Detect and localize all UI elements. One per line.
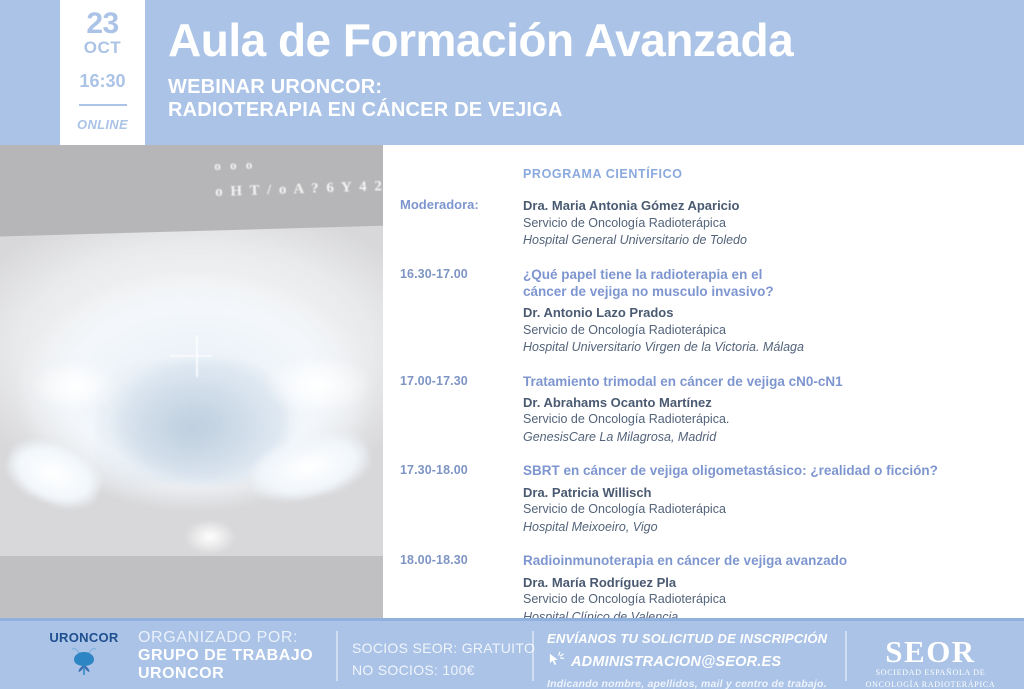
organizer-name-line-2: URONCOR <box>138 665 313 683</box>
session-speaker: Dr. Abrahams Ocanto Martínez <box>523 394 1024 412</box>
date-time: 16:30 <box>79 71 125 92</box>
seor-tagline-line-2: ONCOLOGÍA RADIOTERÁPICA <box>858 680 1003 689</box>
organized-by-label: ORGANIZADO POR: <box>138 629 313 647</box>
session-time: 18.00-18.30 <box>400 552 523 626</box>
uroncor-logo: URONCOR <box>38 630 130 681</box>
program-heading: PROGRAMA CIENTÍFICO <box>523 167 1024 181</box>
date-month: OCT <box>84 39 121 56</box>
organizer-name-line-1: GRUPO DE TRABAJO <box>138 647 313 665</box>
session-time: 17.30-18.00 <box>400 462 523 536</box>
scan-crosshair-horizontal <box>170 355 212 357</box>
session-dept: Servicio de Oncología Radioterápica <box>523 322 1024 340</box>
subtitle-line-2: RADIOTERAPIA EN CÁNCER DE VEJIGA <box>168 99 1008 122</box>
session-details: SBRT en cáncer de vejiga oligometastásic… <box>523 462 1024 536</box>
footer-divider-1 <box>336 631 338 681</box>
session-time: 17.00-17.30 <box>400 373 523 447</box>
session-hospital: GenesisCare La Milagrosa, Madrid <box>523 429 1024 447</box>
session-title-line-2: cáncer de vejiga no musculo invasivo? <box>523 283 1024 300</box>
poster-footer: URONCOR ORGANIZADO POR: GRUPO DE TRABAJO… <box>0 618 1024 689</box>
uroncor-logo-text: URONCOR <box>38 630 130 645</box>
ct-scan-image: o o o o H T / o A ? 6 Y 4 2 3 3 <box>0 145 383 618</box>
session-title: Tratamiento trimodal en cáncer de vejiga… <box>523 373 1024 390</box>
session-time: 16.30-17.00 <box>400 266 523 357</box>
poster-body: o o o o H T / o A ? 6 Y 4 2 3 3 PROGRAMA… <box>0 145 1024 618</box>
moderator-hospital: Hospital General Universitario de Toledo <box>523 232 1024 250</box>
title-group: Aula de Formación Avanzada WEBINAR URONC… <box>168 16 1008 122</box>
inscription-note: Indicando nombre, apellidos, mail y cent… <box>547 678 827 689</box>
session-title-line-1: ¿Qué papel tiene la radioterapia en el <box>523 266 1024 283</box>
seor-logo-text: SEOR <box>858 637 1003 666</box>
session-details: Tratamiento trimodal en cáncer de vejiga… <box>523 373 1024 447</box>
session-dept: Servicio de Oncología Radioterápica <box>523 591 1024 609</box>
session-title: ¿Qué papel tiene la radioterapia en el c… <box>523 266 1024 301</box>
date-mode: ONLINE <box>77 117 128 132</box>
session-hospital: Hospital Universitario Virgen de la Vict… <box>523 339 1024 357</box>
session-speaker: Dr. Antonio Lazo Prados <box>523 304 1024 322</box>
date-divider <box>79 104 127 106</box>
pricing-block: SOCIOS SEOR: GRATUITO NO SOCIOS: 100€ <box>352 638 535 681</box>
session-dept: Servicio de Oncología Radioterápica. <box>523 411 1024 429</box>
scan-bone-center <box>185 520 235 554</box>
webinar-poster: 23 OCT 16:30 ONLINE Aula de Formación Av… <box>0 0 1024 689</box>
session-details: ¿Qué papel tiene la radioterapia en el c… <box>523 266 1024 357</box>
cursor-click-icon <box>547 650 566 674</box>
session-row: 17.00-17.30 Tratamiento trimodal en cánc… <box>383 373 1024 447</box>
bladder-icon <box>38 646 130 681</box>
date-day: 23 <box>86 10 118 39</box>
scan-bright-left <box>30 360 120 412</box>
session-details: Radioinmunoterapia en cáncer de vejiga a… <box>523 552 1024 626</box>
inscription-email-row[interactable]: ADMINISTRACION@SEOR.ES <box>547 650 827 674</box>
organizer-block: ORGANIZADO POR: GRUPO DE TRABAJO URONCOR <box>138 629 313 683</box>
moderator-details: Dra. Maria Antonia Gómez Aparicio Servic… <box>523 197 1024 250</box>
page-title: Aula de Formación Avanzada <box>168 16 1008 66</box>
moderator-name: Dra. Maria Antonia Gómez Aparicio <box>523 197 1024 215</box>
inscription-block: ENVÍANOS TU SOLICITUD DE INSCRIPCIÓN ADM… <box>547 631 827 689</box>
price-members: SOCIOS SEOR: GRATUITO <box>352 638 535 660</box>
session-dept: Servicio de Oncología Radioterápica <box>523 501 1024 519</box>
session-row: 18.00-18.30 Radioinmunoterapia en cáncer… <box>383 552 1024 626</box>
scan-annotation-text: o o o o H T / o A ? 6 Y 4 2 3 3 <box>214 152 383 218</box>
seor-tagline-line-1: SOCIEDAD ESPAÑOLA DE <box>858 668 1003 678</box>
moderator-label: Moderadora: <box>400 197 523 250</box>
inscription-email[interactable]: ADMINISTRACION@SEOR.ES <box>571 654 781 670</box>
price-non-members: NO SOCIOS: 100€ <box>352 660 535 682</box>
poster-header: 23 OCT 16:30 ONLINE Aula de Formación Av… <box>0 0 1024 145</box>
moderator-dept: Servicio de Oncología Radioterápica <box>523 215 1024 233</box>
session-row: 17.30-18.00 SBRT en cáncer de vejiga oli… <box>383 462 1024 536</box>
session-row: 16.30-17.00 ¿Qué papel tiene la radioter… <box>383 266 1024 357</box>
moderator-row: Moderadora: Dra. Maria Antonia Gómez Apa… <box>383 197 1024 250</box>
seor-logo: SEOR SOCIEDAD ESPAÑOLA DE ONCOLOGÍA RADI… <box>858 637 1003 689</box>
date-block: 23 OCT 16:30 ONLINE <box>60 0 145 145</box>
program-panel: PROGRAMA CIENTÍFICO Moderadora: Dra. Mar… <box>383 145 1024 618</box>
scan-annotation-row-2: o H T / o A ? 6 Y 4 2 3 3 <box>215 178 383 201</box>
session-title: Radioinmunoterapia en cáncer de vejiga a… <box>523 552 1024 569</box>
session-hospital: Hospital Meixoeiro, Vigo <box>523 519 1024 537</box>
footer-divider-2 <box>532 631 534 681</box>
session-speaker: Dra. María Rodríguez Pla <box>523 574 1024 592</box>
session-title: SBRT en cáncer de vejiga oligometastásic… <box>523 462 1024 479</box>
subtitle-line-1: WEBINAR URONCOR: <box>168 76 1008 99</box>
footer-divider-3 <box>845 631 847 681</box>
scan-bright-right <box>262 355 372 415</box>
session-speaker: Dra. Patricia Willisch <box>523 484 1024 502</box>
scan-band-bottom <box>0 556 383 618</box>
inscription-title: ENVÍANOS TU SOLICITUD DE INSCRIPCIÓN <box>547 631 827 648</box>
